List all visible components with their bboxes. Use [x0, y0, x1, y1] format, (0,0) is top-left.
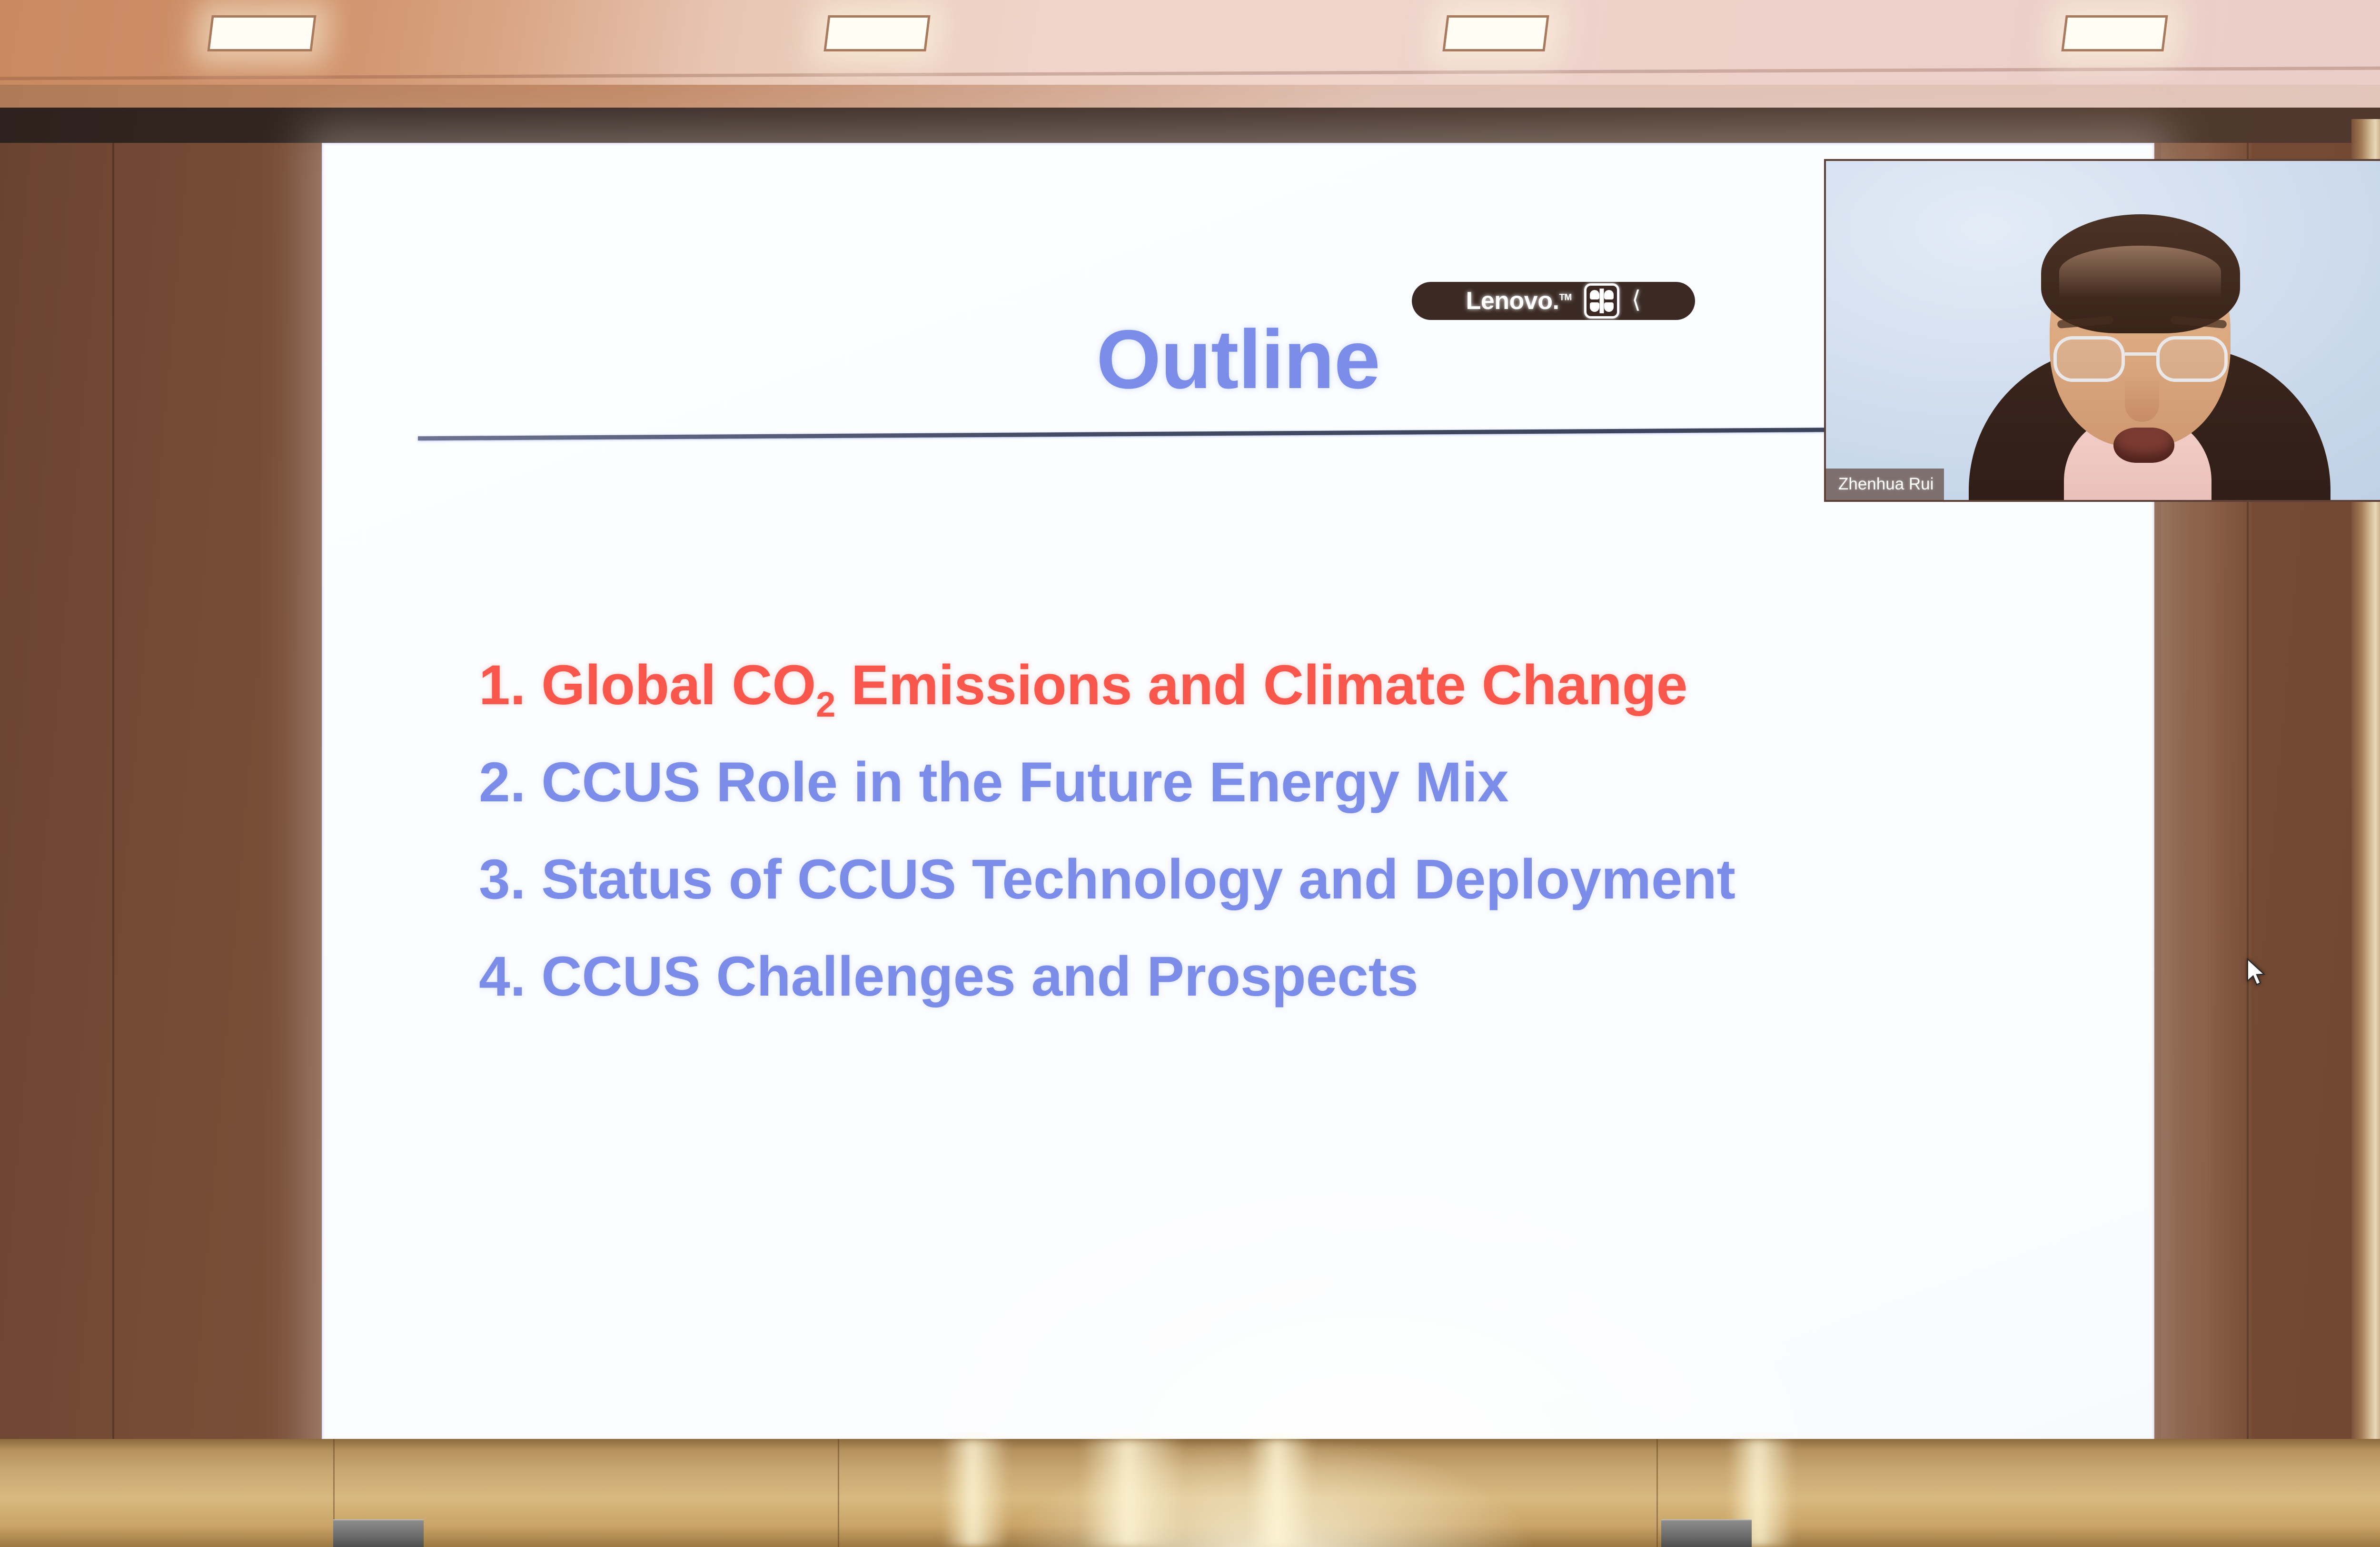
participant-mouth: [2113, 428, 2174, 463]
outline-item-1[interactable]: 1. Global CO2 Emissions and Climate Chan…: [479, 657, 2073, 713]
lenovo-trademark-dot: .: [1553, 287, 1559, 315]
participant-nose: [2125, 376, 2159, 422]
ceiling-light: [207, 15, 316, 51]
lenovo-wordmark-text: Lenovo: [1466, 287, 1553, 315]
participant-name-label: Zhenhua Rui: [1838, 475, 1934, 494]
participant-glasses: [2053, 336, 2228, 382]
participant-hair: [2041, 214, 2240, 333]
glasses-lens-right: [2156, 336, 2228, 382]
outline-item-3[interactable]: 3. Status of CCUS Technology and Deploym…: [479, 851, 2073, 908]
floor-vent: [333, 1519, 424, 1547]
wainscot-seam: [1656, 1439, 1658, 1547]
ceiling-light: [2061, 15, 2168, 51]
glasses-lens-left: [2053, 336, 2125, 382]
outline-item-2[interactable]: 2. CCUS Role in the Future Energy Mix: [479, 754, 2073, 810]
lenovo-wordmark: Lenovo.TM: [1466, 287, 1572, 315]
title-divider: [418, 428, 1865, 441]
wainscot-reflection: [942, 1439, 1009, 1547]
outline-list: 1. Global CO2 Emissions and Climate Chan…: [479, 657, 2073, 1046]
outline-item-4[interactable]: 4. CCUS Challenges and Prospects: [479, 948, 2073, 1005]
ceiling-light: [823, 15, 930, 51]
participant-video-panel[interactable]: Zhenhua Rui: [1824, 159, 2380, 502]
outline-item-1-text-after: Emissions and Climate Change: [835, 654, 1687, 717]
wainscot-seam: [838, 1439, 839, 1547]
outline-item-1-text-before: Global CO: [541, 654, 816, 717]
wall-seam: [112, 143, 114, 1443]
wainscot-reflection: [1247, 1439, 1314, 1547]
chevron-left-icon[interactable]: ⟨: [1632, 288, 1641, 311]
arrow-cursor: [2246, 958, 2268, 988]
floor-vent: [1661, 1519, 1752, 1547]
participant-name-badge: Zhenhua Rui: [1826, 469, 1944, 500]
participant-avatar: [1826, 161, 2380, 500]
outline-item-1-subscript: 2: [816, 685, 835, 724]
screenshot-stage: Lenovo.TM ⟨ Outline 1. Global CO2 Emissi…: [0, 0, 2380, 1547]
wainscot-reflection: [1081, 1439, 1185, 1547]
outline-item-1-number: 1.: [479, 654, 526, 717]
glasses-bridge: [2125, 352, 2156, 356]
ceiling-light: [1442, 15, 1549, 51]
